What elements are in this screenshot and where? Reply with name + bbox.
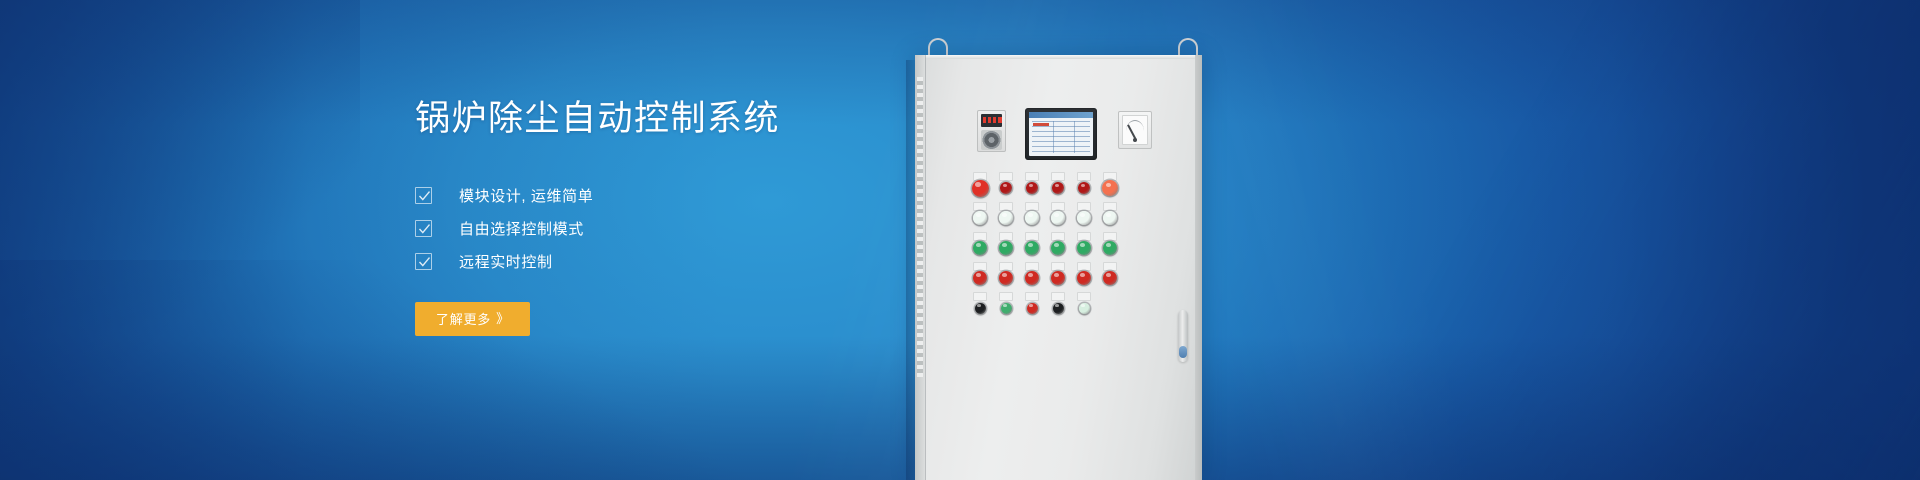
indicator-lamp-icon[interactable] (1026, 182, 1038, 194)
lamp-label-plate (1051, 292, 1065, 301)
indicator-light-cell[interactable] (1045, 263, 1071, 293)
hmi-alarm-indicator (1033, 123, 1049, 126)
indicator-lamp-icon[interactable] (1051, 271, 1065, 285)
lamp-label-plate (1025, 172, 1039, 181)
meter-selector-dial (981, 130, 1002, 150)
indicator-light-cell[interactable] (993, 173, 1019, 203)
indicator-light-cell[interactable] (967, 233, 993, 263)
gauge-face (1122, 115, 1148, 145)
indicator-lamp-icon[interactable] (1027, 303, 1038, 314)
indicator-light-cell[interactable] (1045, 293, 1071, 323)
cabinet-door-seam (925, 55, 926, 480)
indicator-lamp-icon[interactable] (999, 271, 1013, 285)
indicator-lamp-icon[interactable] (1052, 182, 1064, 194)
indicator-lamp-icon[interactable] (1077, 271, 1091, 285)
checkbox-checked-icon (415, 187, 432, 204)
cabinet-top-edge (915, 55, 1202, 59)
indicator-light-cell[interactable] (1019, 203, 1045, 233)
lamp-label-plate (1051, 172, 1065, 181)
lamp-label-plate (1051, 232, 1065, 241)
hmi-table-column (1053, 121, 1054, 153)
indicator-light-cell[interactable] (1019, 173, 1045, 203)
indicator-light-cell[interactable] (1097, 263, 1123, 293)
indicator-lamp-icon[interactable] (1103, 271, 1117, 285)
lamp-label-plate (1077, 262, 1091, 271)
indicator-light-row (967, 233, 1157, 263)
indicator-light-grid (967, 173, 1157, 323)
banner-content: 锅炉除尘自动控制系统 模块设计, 运维简单 自由选择控制模式 (415, 100, 975, 336)
lamp-label-plate (1077, 172, 1091, 181)
gauge-pivot (1133, 138, 1137, 142)
indicator-lamp-icon[interactable] (1051, 241, 1065, 255)
door-handle (1178, 310, 1188, 362)
cabinet-right-edge (1195, 55, 1202, 480)
lamp-label-plate (1025, 292, 1039, 301)
lamp-label-plate (1051, 202, 1065, 211)
indicator-light-cell[interactable] (967, 293, 993, 323)
list-item: 自由选择控制模式 (415, 212, 975, 245)
hmi-table-column (1074, 121, 1075, 153)
indicator-light-row (967, 203, 1157, 233)
cabinet-body (915, 55, 1202, 480)
hmi-touchscreen (1025, 108, 1097, 160)
hinge-teeth (917, 77, 923, 377)
lamp-label-plate (1025, 202, 1039, 211)
meter-display (981, 114, 1002, 127)
chevron-right-icon: 》 (496, 312, 509, 325)
list-item: 模块设计, 运维简单 (415, 179, 975, 212)
hero-banner: 锅炉除尘自动控制系统 模块设计, 运维简单 自由选择控制模式 (0, 0, 1920, 480)
lamp-label-plate (973, 262, 987, 271)
lamp-label-plate (999, 292, 1013, 301)
lamp-label-plate (1077, 202, 1091, 211)
lamp-label-plate (1025, 232, 1039, 241)
indicator-light-cell[interactable] (1097, 203, 1123, 233)
control-cabinet-image (900, 0, 1240, 480)
indicator-light-cell[interactable] (1071, 233, 1097, 263)
indicator-lamp-icon[interactable] (1000, 182, 1012, 194)
indicator-light-cell[interactable] (993, 293, 1019, 323)
indicator-lamp-icon[interactable] (1077, 211, 1091, 225)
checkbox-checked-icon (415, 253, 432, 270)
indicator-lamp-icon[interactable] (1103, 211, 1117, 225)
hmi-title-bar (1029, 112, 1093, 118)
lamp-label-plate (999, 262, 1013, 271)
indicator-lamp-icon[interactable] (1079, 303, 1090, 314)
analog-gauge (1118, 111, 1152, 149)
indicator-lamp-icon[interactable] (973, 241, 987, 255)
indicator-lamp-icon[interactable] (1025, 271, 1039, 285)
indicator-light-cell[interactable] (1071, 263, 1097, 293)
indicator-light-row (967, 263, 1157, 293)
learn-more-button[interactable]: 了解更多 》 (415, 302, 530, 336)
indicator-lamp-icon[interactable] (1053, 303, 1064, 314)
cabinet-hinge-strip (915, 55, 925, 480)
lamp-label-plate (973, 202, 987, 211)
indicator-light-cell[interactable] (1097, 173, 1123, 203)
lamp-label-plate (999, 172, 1013, 181)
indicator-light-cell[interactable] (993, 233, 1019, 263)
lamp-label-plate (973, 232, 987, 241)
lamp-label-plate (1077, 292, 1091, 301)
page-title: 锅炉除尘自动控制系统 (415, 100, 975, 139)
indicator-lamp-icon[interactable] (1001, 303, 1012, 314)
lamp-label-plate (1103, 202, 1117, 211)
indicator-light-cell[interactable] (1071, 203, 1097, 233)
list-item: 远程实时控制 (415, 245, 975, 278)
indicator-lamp-icon[interactable] (972, 180, 989, 197)
indicator-lamp-icon[interactable] (1025, 211, 1039, 225)
indicator-lamp-icon[interactable] (973, 211, 987, 225)
indicator-light-cell[interactable] (1019, 233, 1045, 263)
feature-label: 模块设计, 运维简单 (459, 185, 593, 206)
indicator-lamp-icon[interactable] (975, 303, 986, 314)
indicator-lamp-icon[interactable] (999, 211, 1013, 225)
lamp-label-plate (1077, 232, 1091, 241)
indicator-light-cell[interactable] (1071, 293, 1097, 323)
learn-more-label: 了解更多 (436, 309, 491, 328)
door-lock-knob (1179, 346, 1187, 358)
indicator-light-cell[interactable] (1071, 173, 1097, 203)
indicator-lamp-icon[interactable] (1103, 241, 1117, 255)
hmi-screen-surface (1029, 112, 1093, 156)
indicator-light-cell[interactable] (1045, 173, 1071, 203)
indicator-light-cell[interactable] (1019, 293, 1045, 323)
lamp-label-plate (999, 232, 1013, 241)
indicator-light-cell[interactable] (1045, 233, 1071, 263)
indicator-light-cell[interactable] (967, 173, 993, 203)
lamp-label-plate (999, 202, 1013, 211)
indicator-lamp-icon[interactable] (1102, 180, 1118, 196)
feature-label: 远程实时控制 (459, 251, 553, 272)
meter-digits (983, 117, 1002, 123)
indicator-lamp-icon[interactable] (999, 241, 1013, 255)
indicator-light-cell[interactable] (993, 263, 1019, 293)
indicator-light-row (967, 293, 1157, 323)
feature-list: 模块设计, 运维简单 自由选择控制模式 远程实时控制 (415, 179, 975, 278)
lamp-label-plate (1025, 262, 1039, 271)
indicator-light-cell[interactable] (1097, 233, 1123, 263)
indicator-light-cell[interactable] (967, 263, 993, 293)
indicator-light-cell[interactable] (993, 203, 1019, 233)
indicator-lamp-icon[interactable] (973, 271, 987, 285)
checkbox-checked-icon (415, 220, 432, 237)
indicator-light-row (967, 173, 1157, 203)
indicator-light-cell[interactable] (1045, 203, 1071, 233)
lamp-label-plate (973, 292, 987, 301)
indicator-lamp-icon[interactable] (1051, 211, 1065, 225)
indicator-lamp-icon[interactable] (1077, 241, 1091, 255)
indicator-light-cell[interactable] (1097, 293, 1123, 323)
lamp-label-plate (1051, 262, 1065, 271)
indicator-light-cell[interactable] (1019, 263, 1045, 293)
indicator-lamp-icon[interactable] (1025, 241, 1039, 255)
feature-label: 自由选择控制模式 (459, 218, 584, 239)
lamp-label-plate (1103, 262, 1117, 271)
indicator-lamp-icon[interactable] (1078, 182, 1090, 194)
digital-meter (977, 110, 1006, 152)
lamp-label-plate (1103, 232, 1117, 241)
indicator-light-cell[interactable] (967, 203, 993, 233)
